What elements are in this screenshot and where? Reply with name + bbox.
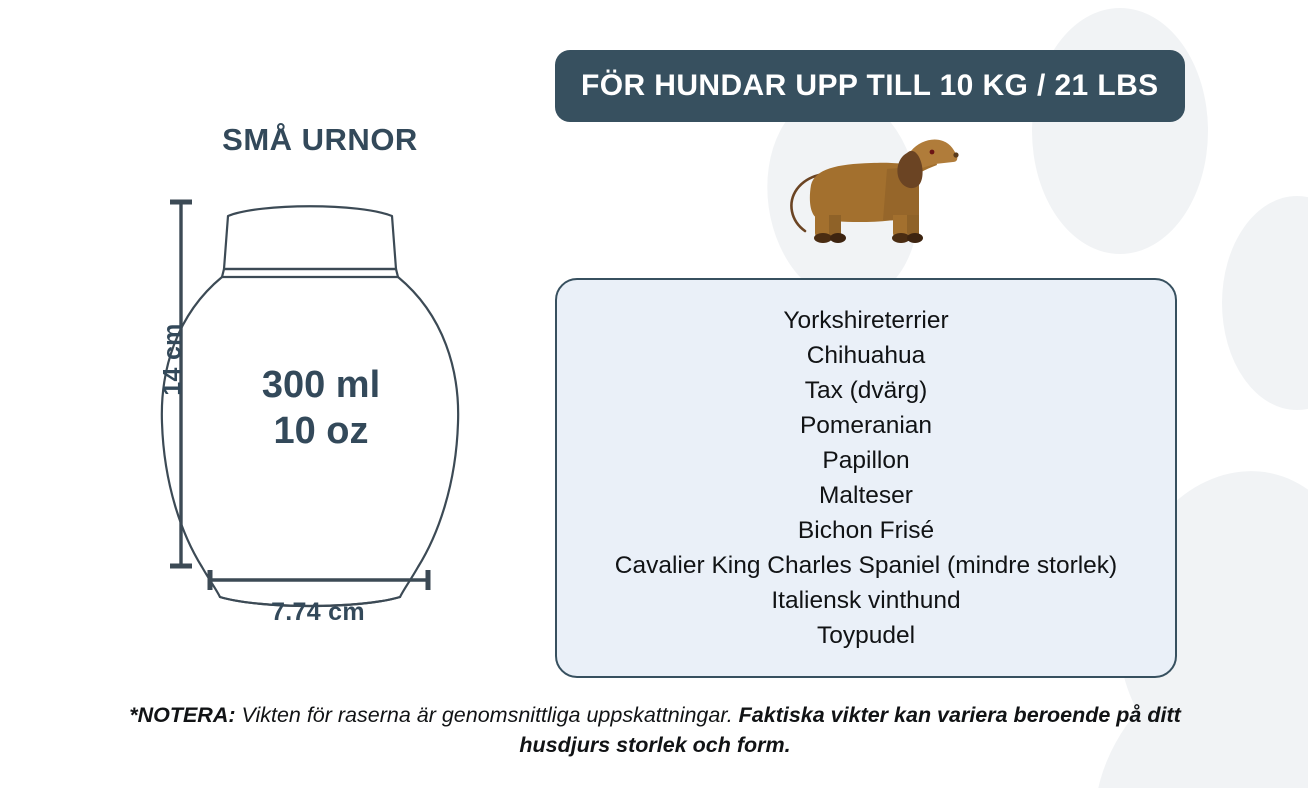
width-dimension-line <box>198 566 440 594</box>
list-item: Pomeranian <box>800 408 932 443</box>
infographic-page: SMÅ URNOR 14 cm <box>0 0 1308 788</box>
weight-range-banner: FÖR HUNDAR UPP TILL 10 KG / 21 LBS <box>555 50 1185 122</box>
footnote-regular: Vikten för raserna är genomsnittliga upp… <box>236 703 739 727</box>
footnote: *NOTERA: Vikten för raserna är genomsnit… <box>100 700 1210 760</box>
dog-illustration <box>775 133 960 253</box>
list-item: Yorkshireterrier <box>783 303 948 338</box>
list-item: Malteser <box>819 478 913 513</box>
list-item: Cavalier King Charles Spaniel (mindre st… <box>615 548 1117 583</box>
paw-watermark-2 <box>1222 196 1308 410</box>
breed-list-box: Yorkshireterrier Chihuahua Tax (dvärg) P… <box>555 278 1177 678</box>
urn-volume-oz: 10 oz <box>190 408 452 454</box>
footnote-prefix: *NOTERA: <box>129 703 235 727</box>
list-item: Chihuahua <box>807 338 926 373</box>
urn-panel-title: SMÅ URNOR <box>0 122 640 158</box>
list-item: Toypudel <box>817 618 915 653</box>
dachshund-icon <box>775 133 960 253</box>
urn-volume: 300 ml 10 oz <box>190 362 452 454</box>
weight-range-banner-text: FÖR HUNDAR UPP TILL 10 KG / 21 LBS <box>581 69 1159 103</box>
list-item: Papillon <box>822 443 909 478</box>
urn-volume-ml: 300 ml <box>190 362 452 408</box>
urn-width-label: 7.74 cm <box>195 598 441 627</box>
paw-watermark-1 <box>1032 8 1208 254</box>
list-item: Tax (dvärg) <box>805 373 928 408</box>
urn-height-label: 14 cm <box>159 305 188 415</box>
list-item: Italiensk vinthund <box>771 583 960 618</box>
list-item: Bichon Frisé <box>798 513 934 548</box>
